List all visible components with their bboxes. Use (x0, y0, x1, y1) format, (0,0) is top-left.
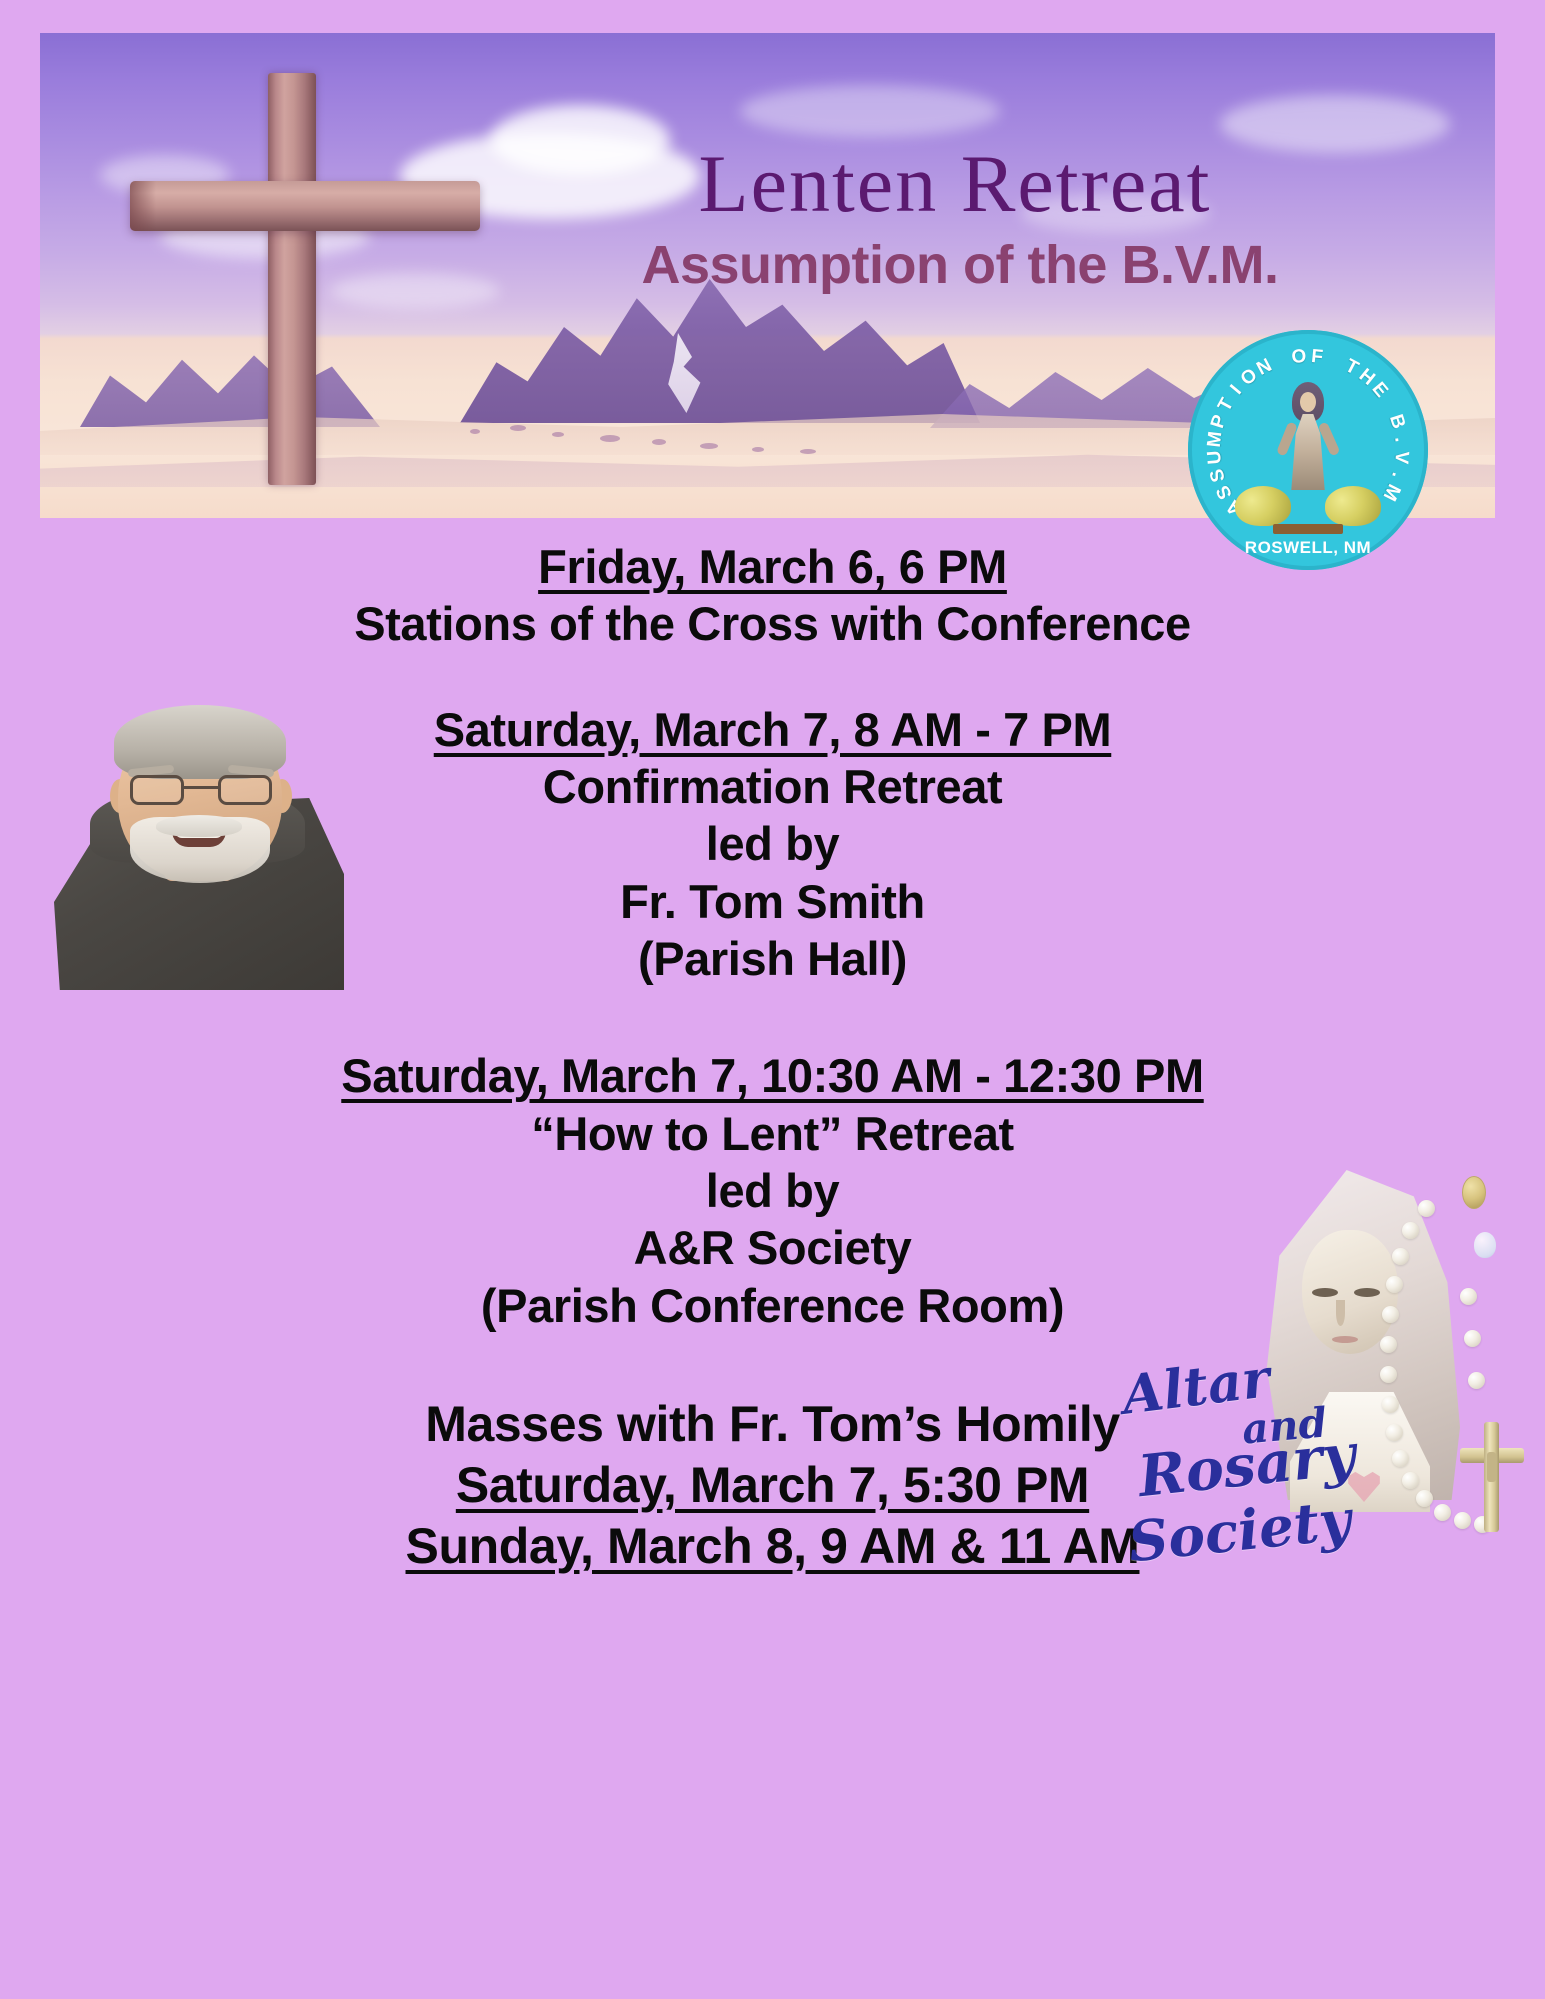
cloud-icon (330, 273, 500, 309)
crucifix-icon (1460, 1422, 1524, 1532)
sand-detail (552, 432, 564, 437)
event-detail-line: Stations of the Cross with Conference (0, 595, 1545, 652)
miraculous-medal-icon (1462, 1176, 1486, 1209)
event-date-line: Saturday, March 7, 10:30 AM - 12:30 PM (0, 1047, 1545, 1104)
rosary-bead (1380, 1336, 1397, 1353)
seal-location-text: ROSWELL, NM (1188, 538, 1428, 558)
rosary-bead (1468, 1372, 1485, 1389)
rosary-bead (1416, 1490, 1433, 1507)
parish-seal-logo: ASSUMPTION OF THE B.V.M. ROSWELL, NM (1188, 330, 1428, 570)
cloud-icon (740, 85, 1000, 137)
wooden-cross-vertical-beam (268, 73, 316, 485)
sand-detail (700, 443, 718, 449)
event-detail-line: “How to Lent” Retreat (0, 1105, 1545, 1162)
glasses-icon (126, 775, 276, 805)
sand-detail (600, 435, 620, 442)
rosary-drop-bead (1474, 1232, 1496, 1258)
sand-detail (470, 429, 480, 434)
rosary-bead (1460, 1288, 1477, 1305)
sand-detail (652, 439, 666, 445)
rosary-bead (1392, 1248, 1409, 1265)
banner-subtitle: Assumption of the B.V.M. (580, 238, 1340, 292)
altar-and-rosary-society-logo: Altar and Rosary Society (1130, 1160, 1530, 1560)
rosary-bead (1434, 1504, 1451, 1521)
wooden-cross-horizontal-beam (130, 181, 480, 231)
rosary-bead (1382, 1396, 1399, 1413)
rosary-bead (1380, 1366, 1397, 1383)
rosary-bead (1386, 1276, 1403, 1293)
rosary-bead (1402, 1472, 1419, 1489)
rosary-bead (1464, 1330, 1481, 1347)
rosary-bead (1382, 1306, 1399, 1323)
rosary-bead (1392, 1450, 1409, 1467)
moustache (156, 815, 242, 837)
sand-detail (510, 425, 526, 431)
rosary-bead (1418, 1200, 1435, 1217)
mountain-range-left (80, 315, 380, 427)
flowers-icon (1233, 482, 1383, 526)
sand-detail (800, 449, 816, 454)
priest-photo (44, 705, 354, 915)
statue-pedestal (1273, 524, 1343, 534)
rosary-bead (1386, 1424, 1403, 1441)
sand-detail (752, 447, 764, 452)
banner-title: Lenten Retreat (580, 143, 1330, 225)
rosary-bead (1402, 1222, 1419, 1239)
